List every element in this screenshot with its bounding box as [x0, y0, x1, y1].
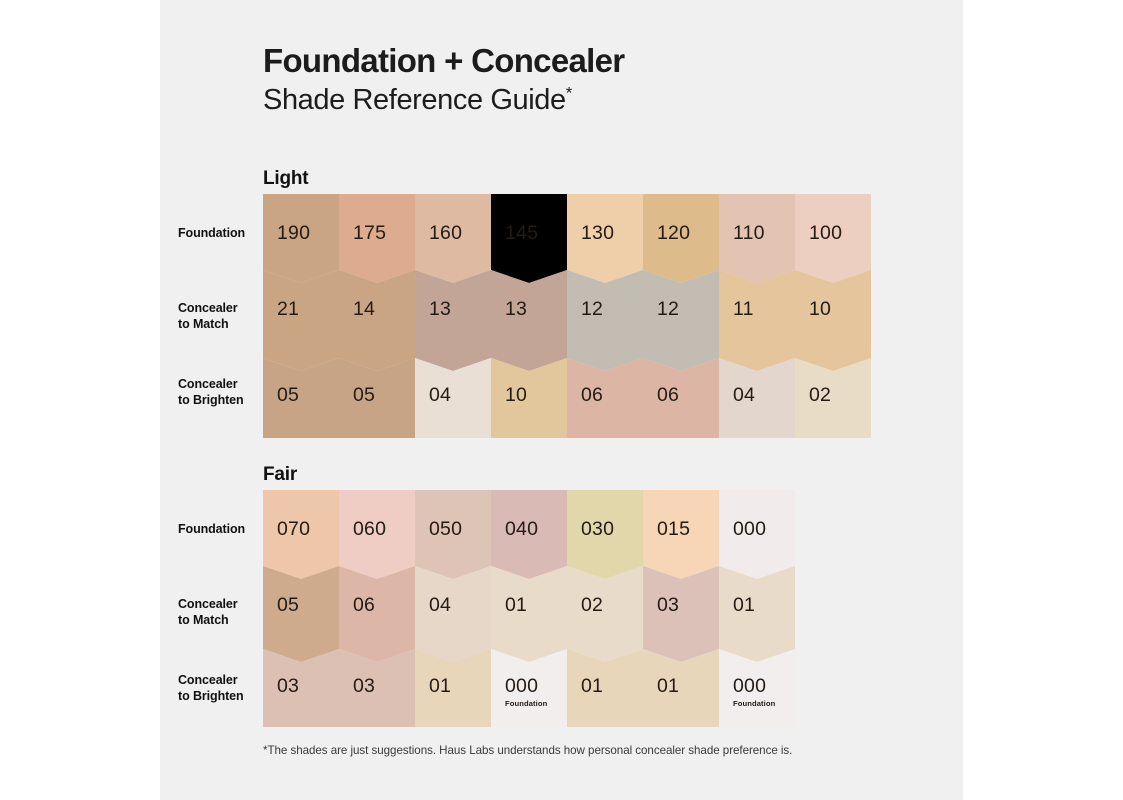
section-heading-undefined: Fair [263, 464, 297, 486]
cell-concealer-match [491, 566, 567, 662]
cell-concealer-match [263, 566, 339, 662]
cell-concealer-match [339, 566, 415, 662]
cell-foundation [719, 490, 795, 579]
shade-grid-undefined [263, 490, 795, 727]
shade-reference-guide-page: Foundation + Concealer Shade Reference G… [0, 0, 1123, 800]
section-undefined: FairFoundationConcealer to MatchConceale… [160, 0, 963, 800]
row-label-concealer-to-match-undefined: Concealer to Match [178, 596, 273, 628]
cell-foundation [263, 490, 339, 579]
cell-concealer-match [719, 566, 795, 662]
cell-concealer-match [415, 566, 491, 662]
content-panel: Foundation + Concealer Shade Reference G… [160, 0, 963, 800]
footnote: *The shades are just suggestions. Haus L… [263, 744, 792, 757]
cell-foundation [643, 490, 719, 579]
cell-foundation [567, 490, 643, 579]
row-label-foundation-undefined: Foundation [178, 521, 273, 537]
row-label-concealer-to-brighten-undefined: Concealer to Brighten [178, 672, 273, 704]
cell-foundation [339, 490, 415, 579]
cell-foundation [491, 490, 567, 579]
cell-concealer-match [643, 566, 719, 662]
cell-concealer-match [567, 566, 643, 662]
cell-foundation [415, 490, 491, 579]
